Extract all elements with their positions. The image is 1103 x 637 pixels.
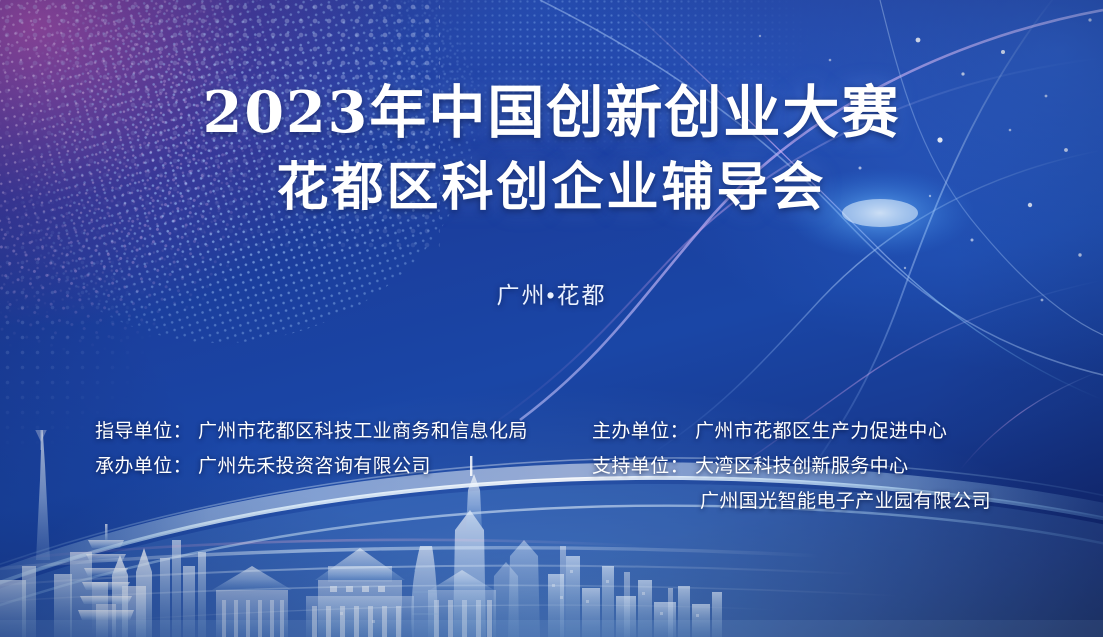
credit-separator: ： bbox=[173, 414, 198, 449]
cbd-cluster-group bbox=[548, 556, 722, 637]
poster-subtitle-location: 广州•花都 bbox=[0, 276, 1103, 310]
credit-value-supporter: 大湾区科技创新服务中心 bbox=[695, 449, 908, 484]
page-title-line-1: 2023年中国创新创业大赛 bbox=[0, 82, 1103, 144]
cathedral-icon bbox=[112, 548, 152, 637]
credits-column-right: 主办单位 ： 广州市花都区生产力促进中心 支持单位 ： 大湾区科技创新服务中心 … bbox=[592, 414, 1035, 519]
credits-column-left: 指导单位 ： 广州市花都区科技工业商务和信息化局 承办单位 ： 广州先禾投资咨询… bbox=[95, 414, 592, 519]
credit-separator: ： bbox=[173, 449, 198, 484]
building-windows-group bbox=[340, 570, 699, 623]
credit-label-guidance: 指导单位 bbox=[95, 414, 173, 449]
credit-label-organizer: 主办单位 bbox=[592, 414, 670, 449]
credit-item-organizer: 主办单位 ： 广州市花都区生产力促进中心 bbox=[592, 414, 1035, 449]
credit-item-supporter: 支持单位 ： 大湾区科技创新服务中心 bbox=[592, 449, 1035, 484]
credit-label-supporter: 支持单位 bbox=[592, 449, 670, 484]
light-streaks-group bbox=[0, 540, 900, 620]
classical-building-b-icon bbox=[428, 570, 496, 637]
page-title-line-2: 花都区科创企业辅导会 bbox=[0, 160, 1103, 216]
credits-row: 指导单位 ： 广州市花都区科技工业商务和信息化局 承办单位 ： 广州先禾投资咨询… bbox=[95, 414, 1035, 519]
credit-value-undertaker: 广州先禾投资咨询有限公司 bbox=[198, 449, 431, 484]
event-poster: 2023年中国创新创业大赛 花都区科创企业辅导会 广州•花都 指导单位 ： 广州… bbox=[0, 0, 1103, 637]
poster-title-block: 2023年中国创新创业大赛 花都区科创企业辅导会 bbox=[0, 82, 1103, 216]
canton-tower-icon bbox=[14, 360, 68, 560]
credit-label-undertaker: 承办单位 bbox=[95, 449, 173, 484]
credit-separator: ： bbox=[670, 414, 695, 449]
credit-value-guidance: 广州市花都区科技工业商务和信息化局 bbox=[198, 414, 528, 449]
grand-classical-building-icon bbox=[306, 548, 414, 637]
credit-separator: ： bbox=[670, 449, 695, 484]
twisted-tower-icon bbox=[411, 546, 438, 637]
credit-item-supporter-secondary: 广州国光智能电子产业园有限公司 bbox=[592, 484, 1035, 519]
classical-building-a-icon bbox=[212, 566, 292, 637]
credit-value-supporter-secondary: 广州国光智能电子产业园有限公司 bbox=[700, 484, 991, 519]
credit-item-guidance: 指导单位 ： 广州市花都区科技工业商务和信息化局 bbox=[95, 414, 592, 449]
credit-item-undertaker: 承办单位 ： 广州先禾投资咨询有限公司 bbox=[95, 449, 592, 484]
cbd-highlights-group bbox=[560, 546, 673, 637]
organizer-credits-block: 指导单位 ： 广州市花都区科技工业商务和信息化局 承办单位 ： 广州先禾投资咨询… bbox=[95, 414, 1035, 519]
midleft-towers-group bbox=[160, 540, 206, 637]
credit-value-organizer: 广州市花都区生产力促进中心 bbox=[695, 414, 947, 449]
pagoda-icon bbox=[78, 524, 134, 637]
left-buildings-group bbox=[0, 552, 108, 637]
